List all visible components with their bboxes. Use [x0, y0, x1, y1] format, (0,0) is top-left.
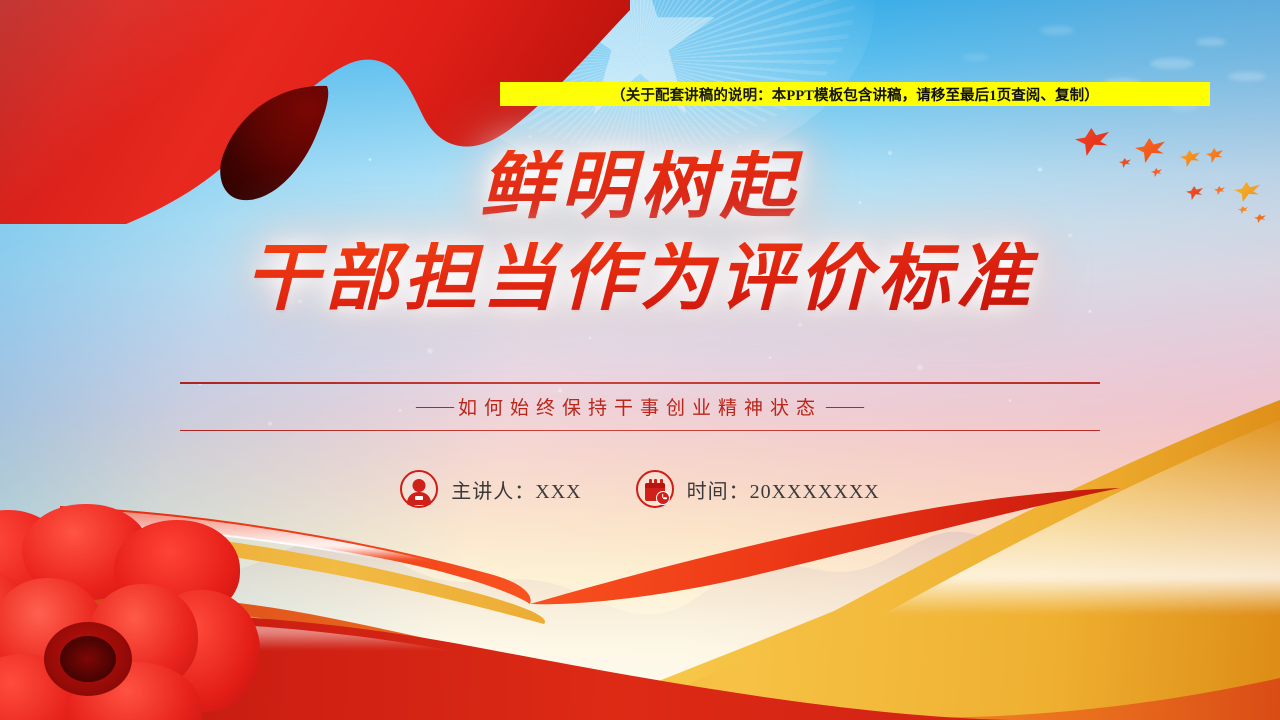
date-item: 时间：20XXXXXXX [636, 470, 880, 508]
cloud-wisp [962, 54, 988, 61]
speaker-item: 主讲人：XXX [400, 470, 581, 508]
presentation-title-slide: （关于配套讲稿的说明：本PPT模板包含讲稿，请移至最后1页查阅、复制） 鲜明树起… [0, 0, 1280, 720]
subtitle: —— 如何始终保持干事创业精神状态 —— [180, 384, 1100, 430]
calendar-header [645, 483, 665, 488]
subtitle-dash-left: —— [412, 396, 458, 418]
subtitle-block: —— 如何始终保持干事创业精神状态 —— [180, 382, 1100, 431]
subtitle-rule-bottom [180, 430, 1100, 432]
subtitle-rule-top [180, 382, 1100, 384]
clock-face [656, 491, 670, 505]
template-notice-banner: （关于配套讲稿的说明：本PPT模板包含讲稿，请移至最后1页查阅、复制） [500, 82, 1210, 106]
page-title: 鲜明树起 干部担当作为评价标准 [0, 150, 1280, 316]
cloud-wisp [1196, 38, 1226, 46]
slide-meta-row: 主讲人：XXX 时间：20XXXXXXX [0, 470, 1280, 508]
red-peony-flower [0, 504, 248, 720]
cloud-wisp [1150, 58, 1194, 69]
clock-hand-hour [663, 497, 667, 499]
calendar-clock-icon [636, 470, 674, 508]
cloud-wisp [1040, 26, 1074, 35]
speaker-label: 主讲人：XXX [451, 475, 581, 504]
person-icon [400, 470, 438, 508]
flower-stamen [60, 636, 116, 682]
subtitle-text: 如何始终保持干事创业精神状态 [458, 393, 822, 420]
cloud-wisp [1228, 72, 1266, 81]
title-line-2: 干部担当作为评价标准 [0, 242, 1280, 316]
date-label: 时间：20XXXXXXX [687, 475, 880, 504]
subtitle-dash-right: —— [822, 396, 868, 418]
person-badge [415, 496, 423, 500]
person-head [413, 479, 426, 492]
title-line-1: 鲜明树起 [0, 150, 1280, 224]
